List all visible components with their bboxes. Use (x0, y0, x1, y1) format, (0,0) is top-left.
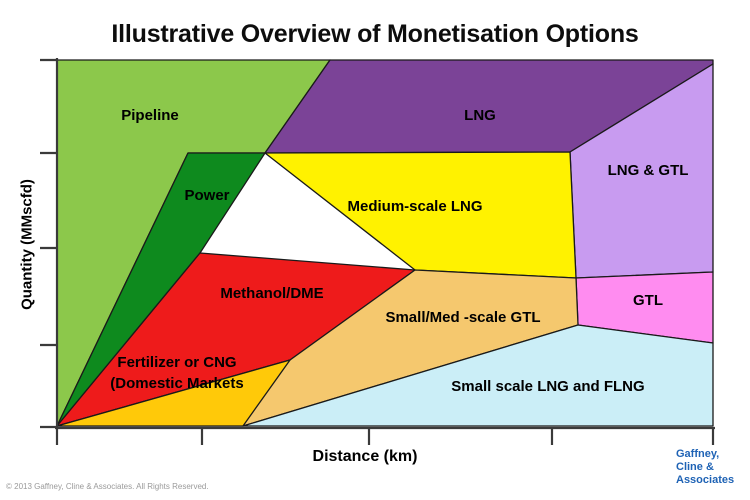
chart-root: Illustrative Overview of Monetisation Op… (0, 0, 750, 500)
region-label-lng-gtl: LNG & GTL (608, 162, 689, 179)
region-label-pipeline: Pipeline (121, 107, 179, 124)
region-label-small-med-scale-gtl: Small/Med -scale GTL (385, 309, 540, 326)
brand-logo: Gaffney, Cline & Associates (676, 448, 746, 487)
region-label-small-scale-lng-and-flng: Small scale LNG and FLNG (451, 378, 644, 395)
brand-line-3: Associates (676, 474, 746, 487)
copyright-notice: © 2013 Gaffney, Cline & Associates. All … (6, 482, 209, 491)
x-axis-title: Distance (km) (240, 448, 490, 466)
region-label-methanol-dme: Methanol/DME (220, 285, 323, 302)
brand-line-1: Gaffney, (676, 448, 746, 461)
region-label-power: Power (184, 187, 229, 204)
region-label-lng: LNG (464, 107, 496, 124)
region-label-gtl: GTL (633, 292, 663, 309)
chart-region-medium-scale-lng[interactable] (265, 152, 576, 278)
y-axis-title: Quantity (MMscfd) (19, 145, 36, 345)
monetisation-options-chart: PipelineLNGLNG & GTLPowerMedium-scale LN… (0, 0, 750, 500)
brand-line-2: Cline & (676, 461, 746, 474)
region-label-medium-scale-lng: Medium-scale LNG (347, 198, 482, 215)
